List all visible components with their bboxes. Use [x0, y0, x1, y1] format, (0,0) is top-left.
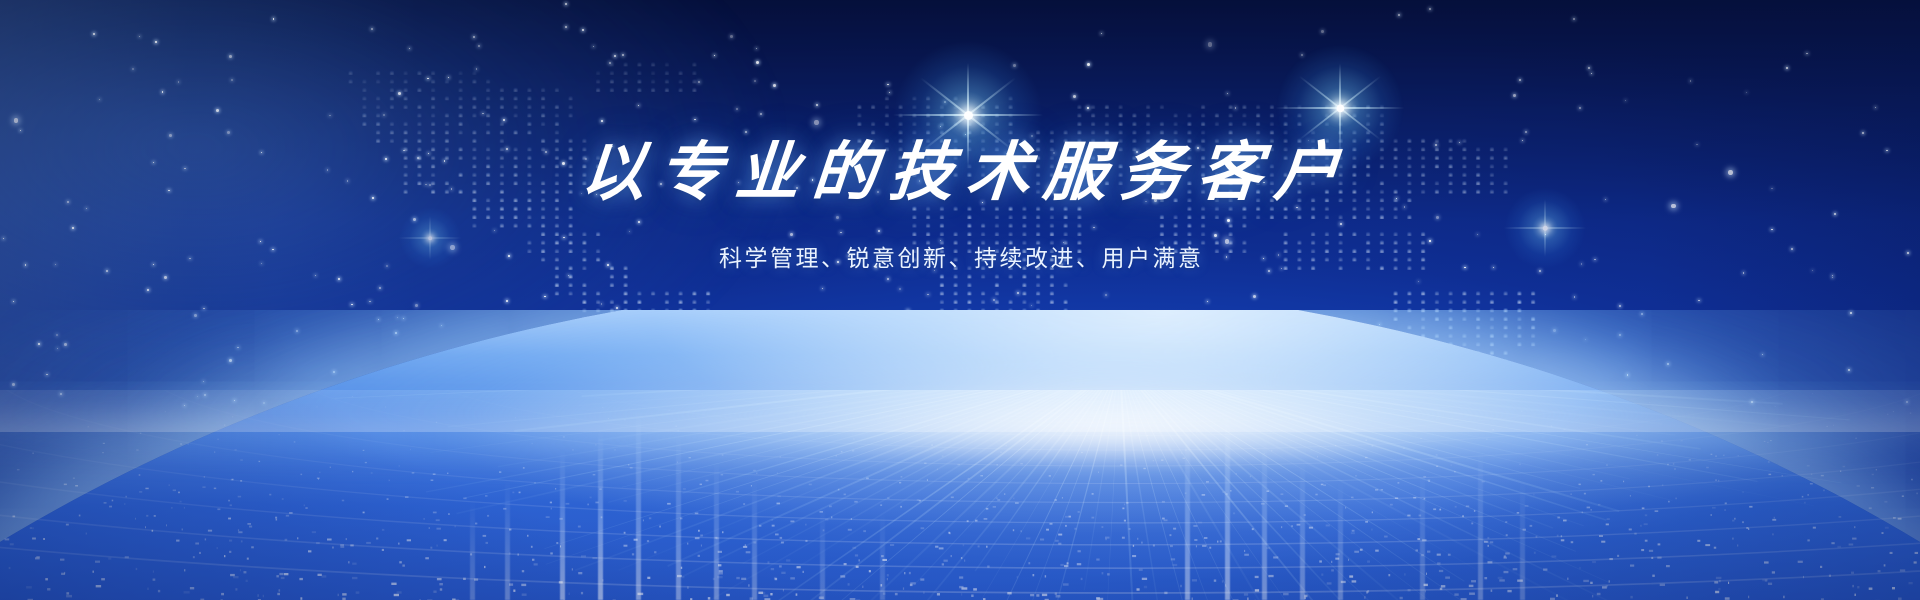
banner-content: 以专业的技术服务客户 科学管理、锐意创新、持续改进、用户满意 — [0, 140, 1920, 273]
banner-subtitle: 科学管理、锐意创新、持续改进、用户满意 — [0, 239, 1920, 273]
banner-title: 以专业的技术服务客户 — [0, 140, 1920, 207]
light-columns — [0, 310, 1920, 600]
earth-horizon — [0, 310, 1920, 600]
hero-banner: 以专业的技术服务客户 科学管理、锐意创新、持续改进、用户满意 — [0, 0, 1920, 600]
